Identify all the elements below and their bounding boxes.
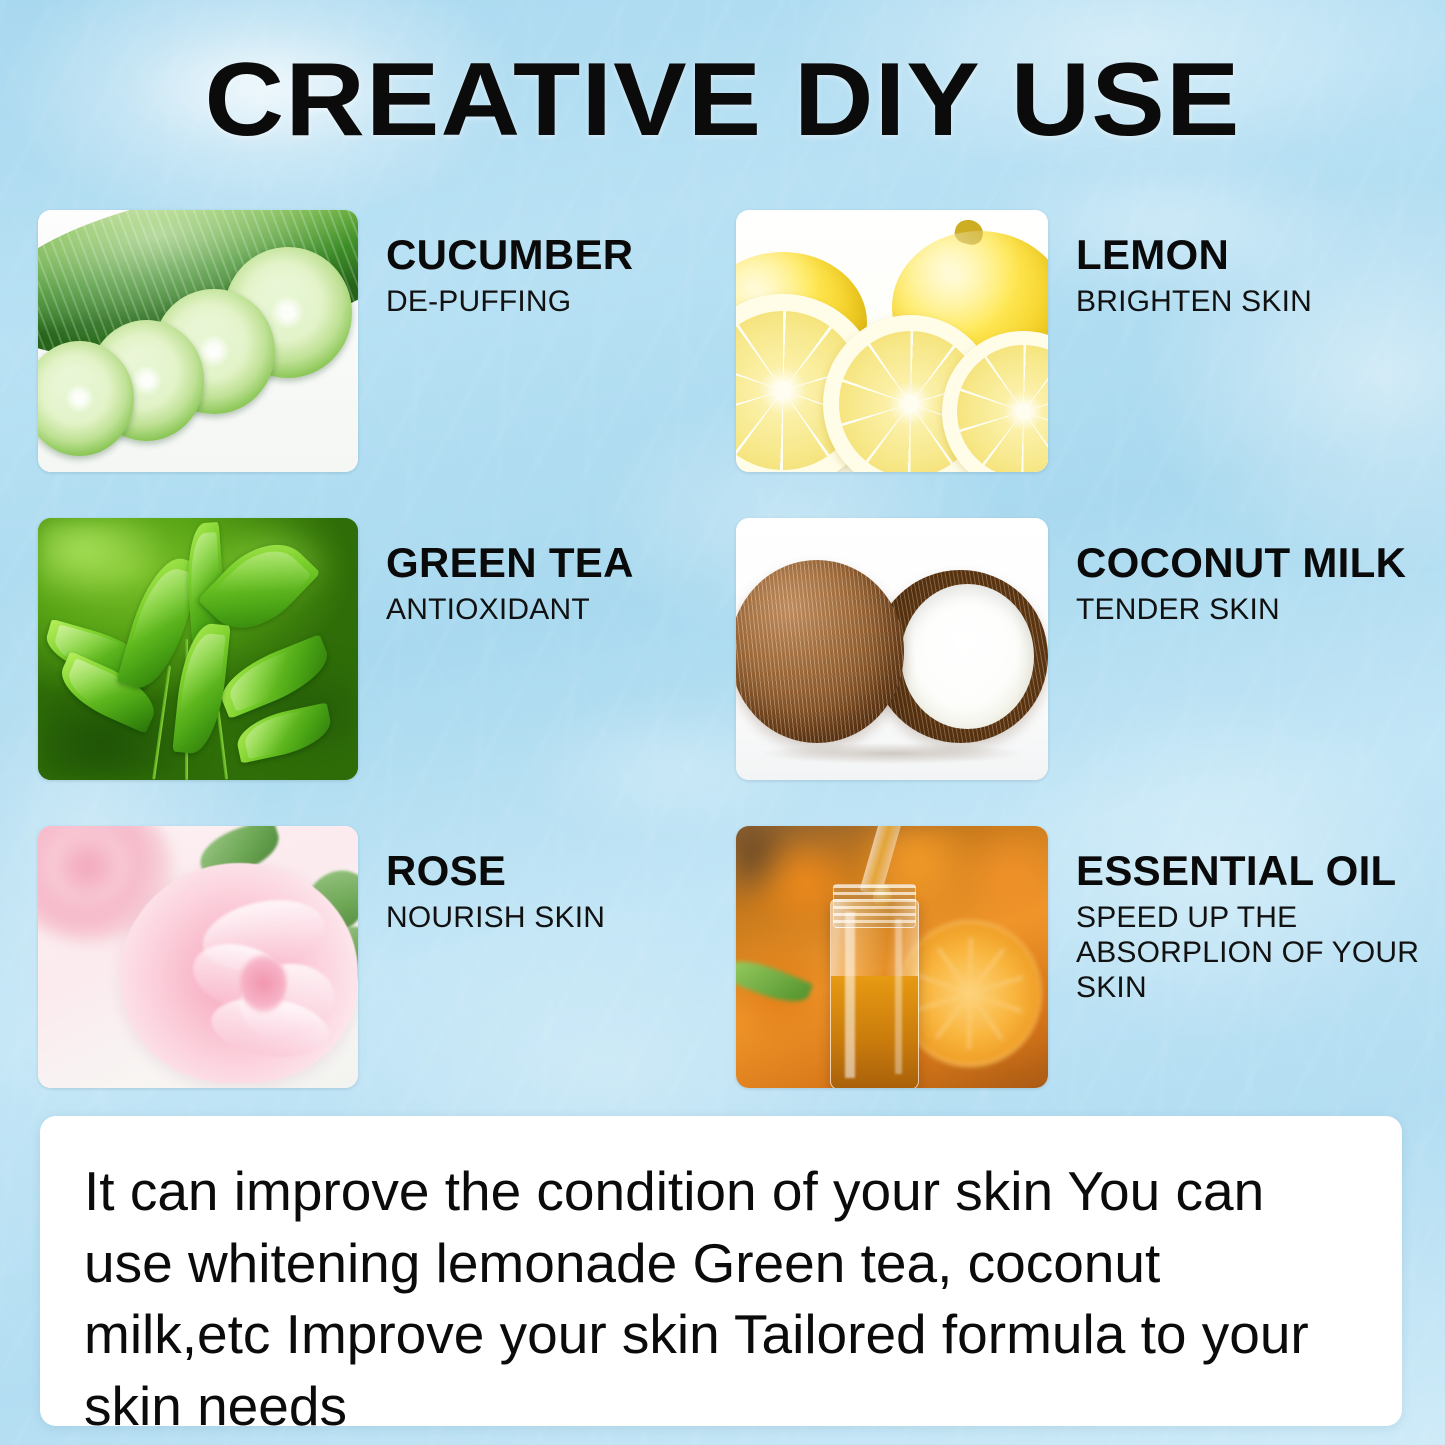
ingredient-row: ROSE NOURISH SKIN (38, 826, 1434, 1088)
ingredient-benefit: BRIGHTEN SKIN (1076, 285, 1312, 320)
ingredient-row: CUCUMBER DE-PUFFING LEMON BRIGHTEN SKIN (38, 210, 1434, 472)
ingredient-item-lemon: LEMON BRIGHTEN SKIN (736, 210, 1434, 472)
ingredient-row: GREEN TEA ANTIOXIDANT COCONUT MILK TENDE… (38, 518, 1434, 780)
ingredient-name: COCONUT MILK (1076, 540, 1406, 585)
ingredient-item-coconut-milk: COCONUT MILK TENDER SKIN (736, 518, 1434, 780)
lemon-photo (736, 210, 1048, 472)
ingredient-benefit: SPEED UP THE ABSORPLION OF YOUR SKIN (1076, 901, 1434, 1005)
coconut-photo (736, 518, 1048, 780)
page-title: CREATIVE DIY USE (0, 46, 1445, 155)
ingredient-item-essential-oil: ESSENTIAL OIL SPEED UP THE ABSORPLION OF… (736, 826, 1434, 1088)
ingredient-name: ESSENTIAL OIL (1076, 848, 1434, 893)
ingredient-name: LEMON (1076, 232, 1312, 277)
green-tea-photo (38, 518, 358, 780)
rose-photo (38, 826, 358, 1088)
ingredient-name: ROSE (386, 848, 605, 893)
ingredient-name: CUCUMBER (386, 232, 633, 277)
cucumber-photo (38, 210, 358, 472)
ingredient-benefit: ANTIOXIDANT (386, 593, 634, 628)
ingredient-name: GREEN TEA (386, 540, 634, 585)
essential-oil-photo (736, 826, 1048, 1088)
description-text: It can improve the condition of your ski… (40, 1116, 1402, 1442)
description-panel: It can improve the condition of your ski… (40, 1116, 1402, 1426)
ingredient-item-cucumber: CUCUMBER DE-PUFFING (38, 210, 736, 472)
ingredient-benefit: NOURISH SKIN (386, 901, 605, 936)
ingredient-grid: CUCUMBER DE-PUFFING LEMON BRIGHTEN SKIN (38, 210, 1434, 1134)
diy-use-infographic: CREATIVE DIY USE CUCUMBER DE-PUFFING (0, 0, 1445, 1445)
ingredient-item-green-tea: GREEN TEA ANTIOXIDANT (38, 518, 736, 780)
ingredient-benefit: DE-PUFFING (386, 285, 633, 320)
ingredient-item-rose: ROSE NOURISH SKIN (38, 826, 736, 1088)
ingredient-benefit: TENDER SKIN (1076, 593, 1406, 628)
